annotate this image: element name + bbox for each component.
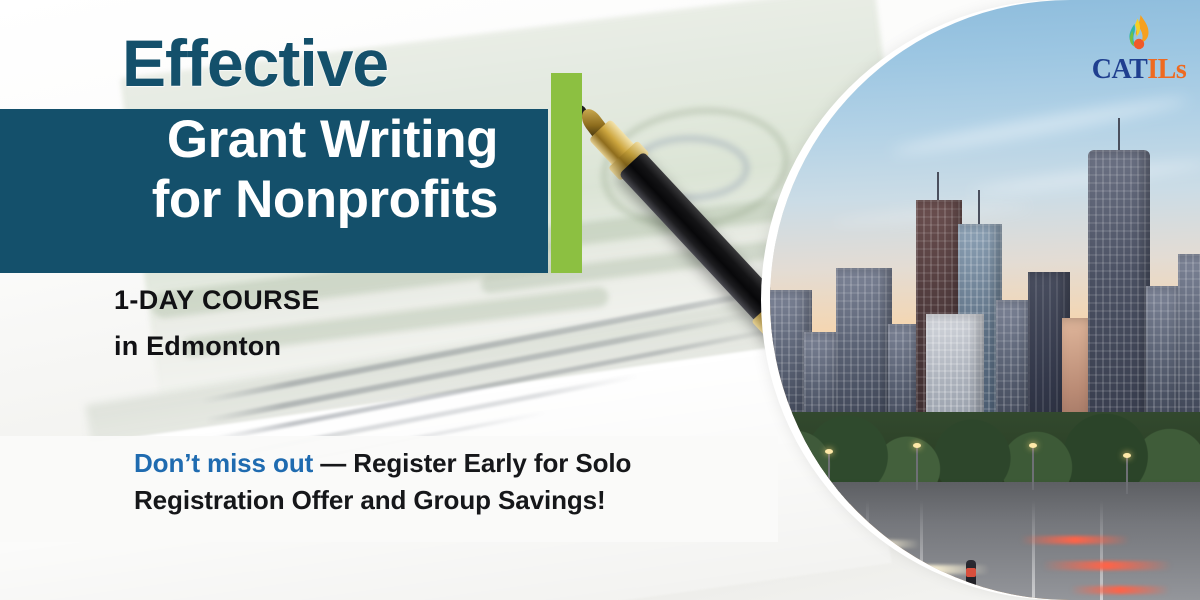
building-antenna: [937, 172, 939, 200]
logo-text-cat: CAT: [1092, 54, 1148, 85]
headlight-trail: [830, 540, 920, 548]
skyline-buildings: [770, 180, 1200, 600]
logo-text-ils: ILs: [1147, 54, 1186, 85]
pedestrian: [966, 560, 976, 594]
taillight-trail: [1042, 561, 1172, 570]
road-lane-marking: [920, 500, 923, 600]
street-lamp: [916, 446, 918, 490]
street-lamp: [1126, 456, 1128, 494]
green-accent-bar: [551, 73, 582, 273]
event-banner: Effective Grant Writing for Nonprofits 1…: [0, 0, 1200, 600]
building-antenna: [1118, 118, 1120, 150]
catils-logo[interactable]: CATILs: [1086, 14, 1192, 84]
logo-wordmark: CATILs: [1086, 56, 1192, 84]
road-lane-marking: [1032, 500, 1035, 600]
subtitle-location: in Edmonton: [114, 331, 281, 362]
cta-accent-text: Don’t miss out: [134, 448, 313, 478]
city-skyline-panel: [770, 0, 1200, 600]
road-lane-marking: [1100, 500, 1103, 600]
headlight-trail: [810, 584, 920, 592]
flame-person-icon: [1124, 14, 1154, 54]
street-lamp: [1032, 446, 1034, 490]
headline-top: Effective: [122, 30, 388, 96]
cta-message: Don’t miss out — Register Early for Solo…: [134, 445, 764, 519]
street-lamp: [828, 452, 830, 492]
taillight-trail: [1020, 536, 1130, 544]
building-tallest: [1088, 150, 1150, 450]
taillight-trail: [1070, 586, 1170, 594]
building-antenna: [978, 190, 980, 224]
city-photo-curved-mask: [770, 0, 1200, 600]
headline-main: Grant Writing for Nonprofits: [0, 110, 530, 231]
headline-main-line2: for Nonprofits: [0, 170, 498, 230]
headline-main-line1: Grant Writing: [0, 110, 498, 170]
subtitle-course-length: 1-DAY COURSE: [114, 285, 320, 316]
